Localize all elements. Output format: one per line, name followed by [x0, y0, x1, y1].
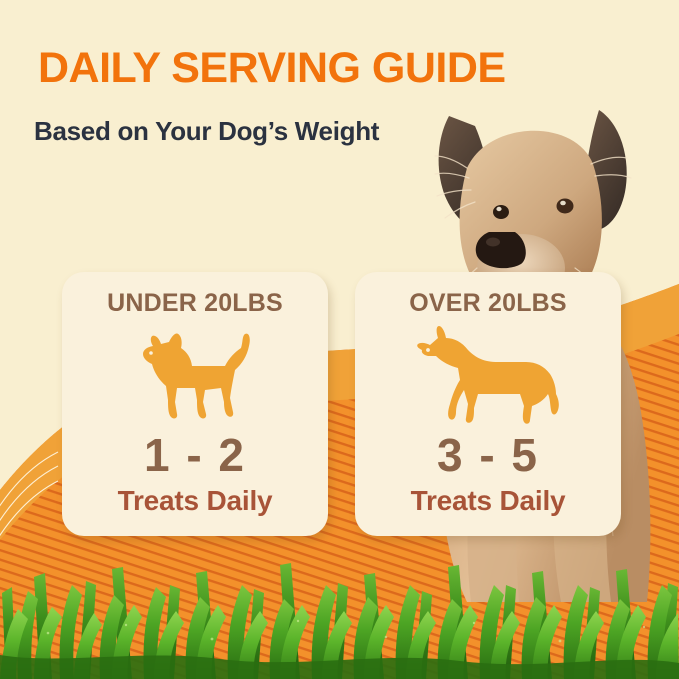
page-title: DAILY SERVING GUIDE: [38, 44, 506, 93]
serving-guide-graphic: DAILY SERVING GUIDE Based on Your Dog’s …: [0, 0, 679, 679]
small-dog-silhouette: [129, 324, 261, 428]
serving-count: 3 - 5: [437, 432, 539, 478]
serving-frequency: Treats Daily: [411, 485, 566, 517]
grass-foreground: [0, 529, 679, 679]
card-heading: OVER 20LBS: [409, 289, 567, 318]
serving-count: 1 - 2: [144, 432, 246, 478]
serving-frequency: Treats Daily: [118, 485, 273, 517]
large-dog-silhouette: [408, 324, 568, 428]
card-heading: UNDER 20LBS: [107, 289, 283, 318]
serving-card-over-20lbs: OVER 20LBS 3 - 5 Treats Daily: [355, 272, 621, 536]
page-subtitle: Based on Your Dog’s Weight: [34, 116, 379, 147]
serving-card-under-20lbs: UNDER 20LBS 1 - 2 Treats Daily: [62, 272, 328, 536]
